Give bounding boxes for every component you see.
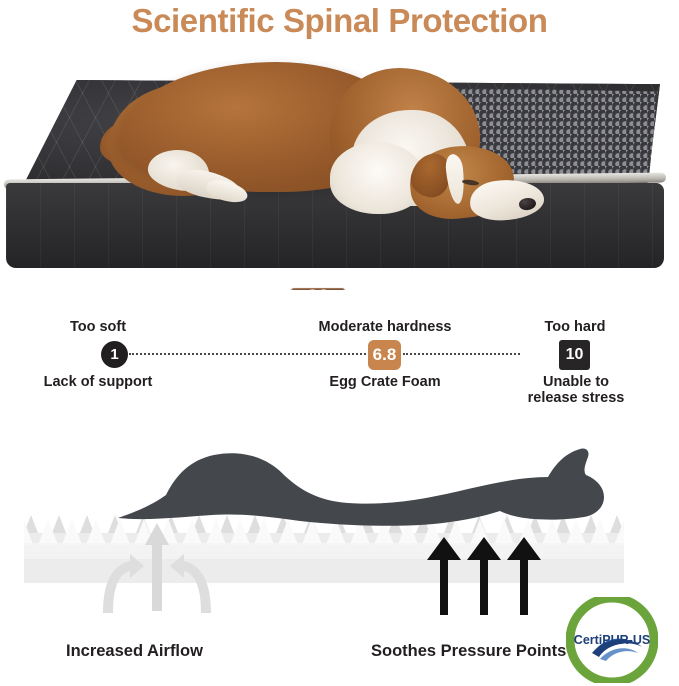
dog-silhouette xyxy=(118,448,604,525)
scale-connector-right xyxy=(403,353,520,355)
certipur-brand-text: CertiPUR-US xyxy=(574,633,650,647)
increased-airflow-label: Increased Airflow xyxy=(66,642,203,661)
scale-soft-top-label: Too soft xyxy=(18,319,178,335)
scale-connector-left xyxy=(129,353,366,355)
product-photo: WESTERN HOME xyxy=(0,50,679,290)
pressure-point-arrows xyxy=(427,537,541,615)
sleeping-dog-photo xyxy=(0,50,679,290)
certipur-us-seal: CONTAINS CERTIPUR-US CERTIFIED FLEXIBLE … xyxy=(566,597,658,683)
scale-moderate-bottom-label: Egg Crate Foam xyxy=(285,374,485,390)
scale-moderate-top-label: Moderate hardness xyxy=(280,319,490,335)
scale-hard-value-badge: 10 xyxy=(559,340,590,370)
scale-soft-bottom-label: Lack of support xyxy=(8,374,188,390)
scale-moderate-value-badge: 6.8 xyxy=(368,340,401,370)
soothes-pressure-points-label: Soothes Pressure Points xyxy=(371,642,566,661)
certipur-us-badge: CONTAINS CERTIPUR-US CERTIFIED FLEXIBLE … xyxy=(566,597,658,683)
scale-hard-bottom-line2: release stress xyxy=(487,390,665,406)
scale-hard-bottom-label: Unable to release stress xyxy=(487,374,665,406)
scale-hard-top-label: Too hard xyxy=(490,319,660,335)
scale-hard-bottom-line1: Unable to xyxy=(487,374,665,390)
page-title: Scientific Spinal Protection xyxy=(0,2,679,40)
firmness-scale: Too soft 1 Lack of support Moderate hard… xyxy=(0,305,679,415)
scale-soft-value-badge: 1 xyxy=(101,341,128,368)
